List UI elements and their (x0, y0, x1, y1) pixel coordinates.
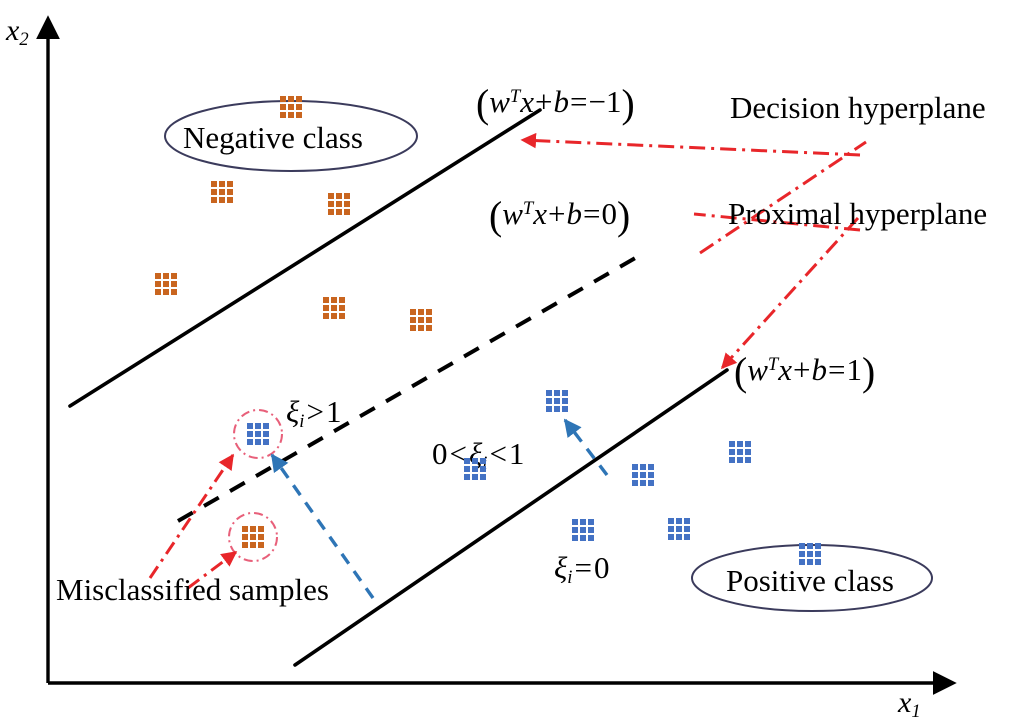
marker-cell (572, 519, 578, 525)
marker-cell (480, 466, 486, 472)
marker-cell (242, 542, 248, 548)
marker-cell (640, 480, 646, 486)
marker-cell (155, 281, 161, 287)
marker-cell (328, 209, 334, 215)
marker-cell (554, 406, 560, 412)
marker-cell (219, 181, 225, 187)
marker-cell (328, 193, 334, 199)
marker-cell (296, 104, 302, 110)
marker-cell (588, 527, 594, 533)
marker-cell (418, 317, 424, 323)
marker-cell (410, 325, 416, 331)
marker-cell (472, 458, 478, 464)
marker-cell (255, 423, 261, 429)
marker-cell (745, 457, 751, 463)
marker-cell (336, 193, 342, 199)
marker-cell (336, 209, 342, 215)
marker-cell (799, 559, 805, 565)
marker-cell (546, 390, 552, 396)
marker-cell (572, 535, 578, 541)
marker-cell (426, 309, 432, 315)
marker-cell (263, 431, 269, 437)
marker-cell (219, 197, 225, 203)
data-point-pos (668, 518, 690, 540)
label-positive-class: Positive class (726, 565, 894, 596)
data-point-neg (211, 181, 233, 203)
marker-cell (258, 534, 264, 540)
marker-cell (211, 189, 217, 195)
marker-cell (426, 325, 432, 331)
marker-cell (171, 289, 177, 295)
marker-cell (426, 317, 432, 323)
label-proximal-hyperplane: Proximal hyperplane (728, 198, 987, 229)
marker-cell (737, 449, 743, 455)
marker-cell (745, 449, 751, 455)
marker-cell (815, 543, 821, 549)
marker-cell (163, 289, 169, 295)
marker-cell (480, 458, 486, 464)
marker-cell (344, 201, 350, 207)
marker-cell (737, 457, 743, 463)
marker-cell (729, 441, 735, 447)
svm-diagram: x2 x1 (wTx+b=−1) (wTx+b=0) (wTx+b=1) Dec… (0, 0, 1025, 725)
data-point-neg (328, 193, 350, 215)
data-point-pos (729, 441, 751, 463)
data-point-pos (247, 423, 269, 445)
marker-cell (242, 526, 248, 532)
marker-cell (588, 519, 594, 525)
marker-cell (242, 534, 248, 540)
marker-cell (410, 309, 416, 315)
marker-cell (331, 297, 337, 303)
marker-cell (640, 472, 646, 478)
marker-cell (572, 527, 578, 533)
callout-misclassified-to-blue (150, 455, 233, 578)
marker-cell (410, 317, 416, 323)
marker-cell (562, 390, 568, 396)
data-point-pos (799, 543, 821, 565)
marker-cell (171, 273, 177, 279)
data-point-pos (546, 390, 568, 412)
marker-cell (250, 526, 256, 532)
marker-cell (336, 201, 342, 207)
marker-cell (588, 535, 594, 541)
marker-cell (155, 273, 161, 279)
marker-cell (684, 534, 690, 540)
marker-cell (632, 480, 638, 486)
marker-cell (323, 313, 329, 319)
marker-cell (219, 189, 225, 195)
marker-cell (684, 518, 690, 524)
marker-cell (255, 439, 261, 445)
marker-cell (163, 281, 169, 287)
data-point-neg (410, 309, 432, 331)
marker-cell (668, 526, 674, 532)
marker-cell (640, 464, 646, 470)
marker-cell (580, 527, 586, 533)
marker-cell (296, 96, 302, 102)
marker-cell (339, 313, 345, 319)
marker-cell (331, 313, 337, 319)
axis-label-y: x2 (6, 16, 29, 50)
marker-cell (799, 551, 805, 557)
marker-cell (288, 112, 294, 118)
marker-cell (668, 518, 674, 524)
marker-cell (632, 464, 638, 470)
marker-cell (580, 519, 586, 525)
marker-cell (227, 197, 233, 203)
marker-cell (296, 112, 302, 118)
marker-cell (729, 457, 735, 463)
marker-cell (815, 559, 821, 565)
marker-cell (562, 406, 568, 412)
marker-cell (546, 406, 552, 412)
label-misclassified-samples: Misclassified samples (56, 574, 329, 605)
marker-cell (554, 398, 560, 404)
marker-cell (815, 551, 821, 557)
marker-cell (632, 472, 638, 478)
marker-cell (807, 559, 813, 565)
marker-cell (684, 526, 690, 532)
marker-cell (211, 197, 217, 203)
marker-cell (464, 466, 470, 472)
data-point-pos (632, 464, 654, 486)
marker-cell (344, 193, 350, 199)
marker-cell (737, 441, 743, 447)
marker-cell (418, 325, 424, 331)
marker-cell (339, 305, 345, 311)
marker-cell (328, 201, 334, 207)
marker-cell (227, 181, 233, 187)
marker-cell (799, 543, 805, 549)
equation-decision: (wTx+b=0) (489, 197, 630, 237)
data-point-neg (280, 96, 302, 118)
marker-cell (418, 309, 424, 315)
marker-cell (155, 289, 161, 295)
marker-cell (464, 458, 470, 464)
label-negative-class: Negative class (183, 122, 363, 153)
marker-cell (546, 398, 552, 404)
marker-cell (648, 472, 654, 478)
marker-cell (258, 526, 264, 532)
marker-cell (211, 181, 217, 187)
marker-cell (163, 273, 169, 279)
marker-cell (580, 535, 586, 541)
marker-cell (676, 534, 682, 540)
marker-cell (562, 398, 568, 404)
marker-cell (331, 305, 337, 311)
data-point-pos (464, 458, 486, 480)
marker-cell (472, 466, 478, 472)
marker-cell (280, 112, 286, 118)
marker-cell (339, 297, 345, 303)
data-point-neg (323, 297, 345, 319)
marker-cell (554, 390, 560, 396)
marker-cell (288, 104, 294, 110)
marker-cell (250, 542, 256, 548)
callout-positive-margin (722, 218, 858, 368)
data-point-neg (242, 526, 264, 548)
label-slack-greater-than-one: ξi>1 (286, 396, 341, 432)
marker-cell (807, 551, 813, 557)
marker-cell (648, 480, 654, 486)
marker-cell (280, 104, 286, 110)
callout-decision-hyperplane (522, 140, 860, 155)
marker-cell (323, 305, 329, 311)
marker-cell (280, 96, 286, 102)
marker-cell (807, 543, 813, 549)
data-point-pos (572, 519, 594, 541)
label-decision-hyperplane: Decision hyperplane (730, 92, 986, 123)
equation-positive-margin: (wTx+b=1) (734, 353, 875, 393)
marker-cell (171, 281, 177, 287)
marker-cell (676, 526, 682, 532)
marker-cell (288, 96, 294, 102)
label-slack-zero: ξi=0 (554, 552, 609, 588)
marker-cell (344, 209, 350, 215)
data-point-neg (155, 273, 177, 295)
axis-label-x: x1 (898, 688, 921, 722)
marker-cell (676, 518, 682, 524)
marker-cell (227, 189, 233, 195)
marker-cell (258, 542, 264, 548)
marker-cell (668, 534, 674, 540)
marker-cell (745, 441, 751, 447)
marker-cell (472, 474, 478, 480)
equation-negative-margin: (wTx+b=−1) (476, 85, 635, 125)
marker-cell (263, 423, 269, 429)
marker-cell (648, 464, 654, 470)
marker-cell (247, 439, 253, 445)
marker-cell (247, 423, 253, 429)
marker-cell (464, 474, 470, 480)
marker-cell (729, 449, 735, 455)
marker-cell (263, 439, 269, 445)
marker-cell (323, 297, 329, 303)
marker-cell (480, 474, 486, 480)
marker-cell (250, 534, 256, 540)
marker-cell (247, 431, 253, 437)
marker-cell (255, 431, 261, 437)
